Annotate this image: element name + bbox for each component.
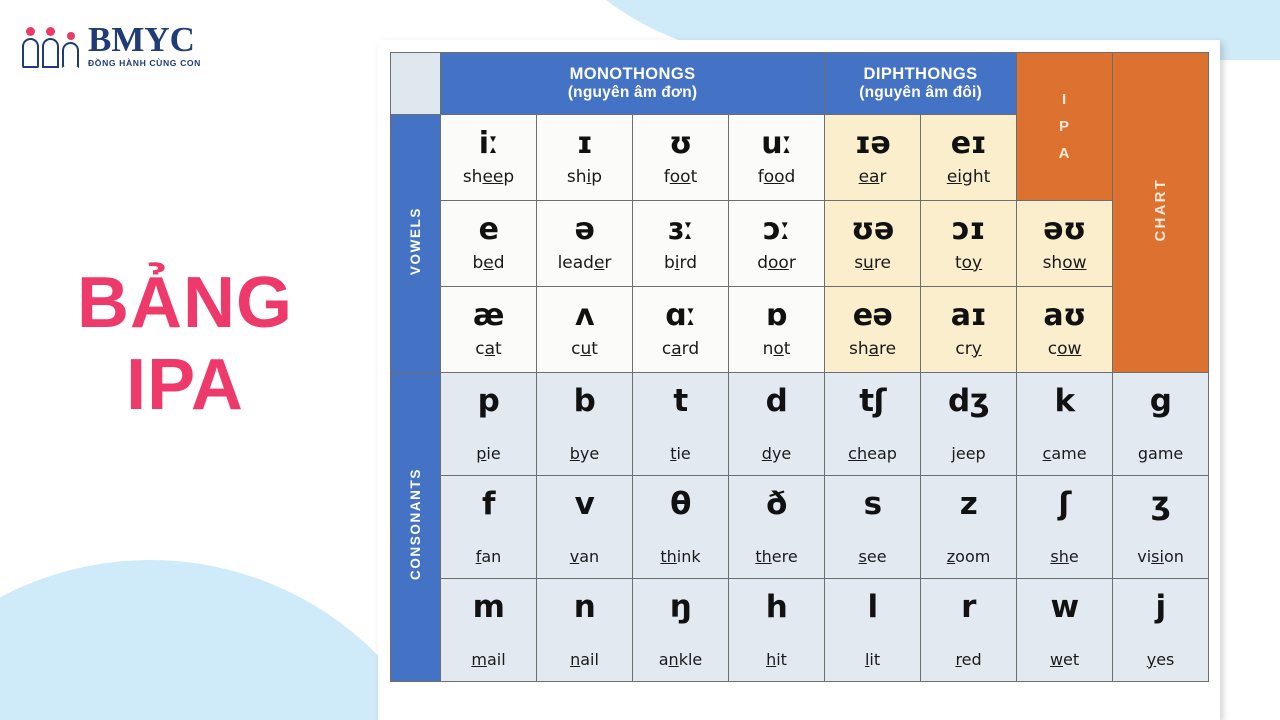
ipa-symbol: z xyxy=(921,488,1016,521)
example-word: cut xyxy=(537,339,632,359)
example-word: think xyxy=(633,547,728,566)
example-word: hit xyxy=(729,650,824,669)
header-chart-label: CHART xyxy=(1152,178,1169,242)
example-word: leader xyxy=(537,253,632,273)
ipa-symbol: e xyxy=(441,214,536,246)
ipa-symbol: əʊ xyxy=(1017,214,1112,246)
example-word: card xyxy=(633,339,728,359)
example-word: there xyxy=(729,547,824,566)
example-word: bed xyxy=(441,253,536,273)
ipa-symbol: ɒ xyxy=(729,300,824,332)
cell-consonant-0-1[interactable]: b bye xyxy=(537,373,633,476)
cell-consonant-2-4[interactable]: l lit xyxy=(825,579,921,682)
example-word: yes xyxy=(1113,650,1208,669)
example-word: jeep xyxy=(921,444,1016,463)
cell-consonant-1-4[interactable]: s see xyxy=(825,476,921,579)
brand-name: BMYC xyxy=(88,22,201,57)
example-word: lit xyxy=(825,650,920,669)
example-word: wet xyxy=(1017,650,1112,669)
example-word: show xyxy=(1017,253,1112,273)
ipa-symbol: dʒ xyxy=(921,385,1016,418)
page-title: BẢNG IPA xyxy=(0,262,370,426)
ipa-symbol: ə xyxy=(537,214,632,246)
example-word: eight xyxy=(921,167,1016,187)
example-word: ship xyxy=(537,167,632,187)
header-diphthongs: DIPHTHONGS (nguyên âm đôi) xyxy=(825,53,1017,115)
row-label-consonants: CONSONANTS xyxy=(391,373,441,682)
cell-vowel-2-1[interactable]: ʌ cut xyxy=(537,287,633,373)
cell-consonant-2-2[interactable]: ŋ ankle xyxy=(633,579,729,682)
cell-consonant-1-5[interactable]: z zoom xyxy=(921,476,1017,579)
example-word: sheep xyxy=(441,167,536,187)
ipa-symbol: b xyxy=(537,385,632,418)
header-ipa-block: IPA xyxy=(1017,53,1113,201)
ipa-symbol: s xyxy=(825,488,920,521)
example-word: she xyxy=(1017,547,1112,566)
cell-consonant-0-7[interactable]: g game xyxy=(1113,373,1209,476)
header-diphthongs-subtitle: (nguyên âm đôi) xyxy=(825,84,1016,102)
cell-consonant-0-0[interactable]: p pie xyxy=(441,373,537,476)
example-word: bird xyxy=(633,253,728,273)
page-title-line2: IPA xyxy=(0,344,370,426)
row-label-vowels-text: VOWELS xyxy=(408,207,423,275)
cell-vowel-1-2[interactable]: ɜː bird xyxy=(633,201,729,287)
example-word: pie xyxy=(441,444,536,463)
cell-diphthong-1-0[interactable]: ʊə sure xyxy=(825,201,921,287)
vowel-row-2: e bed ə leader ɜː bird ɔː door ʊə sure xyxy=(391,201,1209,287)
example-word: toy xyxy=(921,253,1016,273)
cell-consonant-1-0[interactable]: f fan xyxy=(441,476,537,579)
cell-vowel-0-2[interactable]: ʊ foot xyxy=(633,115,729,201)
example-word: fan xyxy=(441,547,536,566)
brand-tagline: ĐỒNG HÀNH CÙNG CON xyxy=(88,59,201,68)
ipa-symbol: v xyxy=(537,488,632,521)
cell-vowel-1-0[interactable]: e bed xyxy=(441,201,537,287)
row-label-consonants-text: CONSONANTS xyxy=(408,468,423,580)
ipa-symbol: ʊə xyxy=(825,214,920,246)
ipa-symbol: j xyxy=(1113,591,1208,624)
ipa-table: MONOTHONGS (nguyên âm đơn) DIPHTHONGS (n… xyxy=(390,52,1209,682)
cell-consonant-0-2[interactable]: t tie xyxy=(633,373,729,476)
cell-consonant-0-5[interactable]: dʒ jeep xyxy=(921,373,1017,476)
table-header-row: MONOTHONGS (nguyên âm đơn) DIPHTHONGS (n… xyxy=(391,53,1209,115)
ipa-symbol: iː xyxy=(441,128,536,160)
ipa-symbol: aɪ xyxy=(921,300,1016,332)
ipa-symbol: f xyxy=(441,488,536,521)
brand-logo[interactable]: BMYC ĐỒNG HÀNH CÙNG CON xyxy=(22,22,201,68)
example-word: vision xyxy=(1113,547,1208,566)
cell-vowel-0-3[interactable]: uː food xyxy=(729,115,825,201)
ipa-symbol: g xyxy=(1113,385,1208,418)
cell-consonant-2-7[interactable]: j yes xyxy=(1113,579,1209,682)
consonant-row-2: f fan v van θ think ð there s see xyxy=(391,476,1209,579)
ipa-symbol: ð xyxy=(729,488,824,521)
cell-consonant-0-3[interactable]: d dye xyxy=(729,373,825,476)
ipa-symbol: t xyxy=(633,385,728,418)
ipa-symbol: w xyxy=(1017,591,1112,624)
cell-consonant-1-7[interactable]: ʒ vision xyxy=(1113,476,1209,579)
ipa-symbol: h xyxy=(729,591,824,624)
example-word: van xyxy=(537,547,632,566)
header-diphthongs-title: DIPHTHONGS xyxy=(825,65,1016,84)
ipa-symbol: ɪ xyxy=(537,128,632,160)
ipa-symbol: d xyxy=(729,385,824,418)
page-title-line1: BẢNG xyxy=(77,263,293,343)
ipa-symbol: aʊ xyxy=(1017,300,1112,332)
consonant-row-3: m mail n nail ŋ ankle h hit l lit xyxy=(391,579,1209,682)
ipa-symbol: tʃ xyxy=(825,385,920,418)
cell-consonant-1-1[interactable]: v van xyxy=(537,476,633,579)
cell-consonant-1-6[interactable]: ʃ she xyxy=(1017,476,1113,579)
example-word: food xyxy=(729,167,824,187)
cell-vowel-2-2[interactable]: ɑː card xyxy=(633,287,729,373)
ipa-symbol: k xyxy=(1017,385,1112,418)
example-word: zoom xyxy=(921,547,1016,566)
ipa-symbol: ʊ xyxy=(633,128,728,160)
cell-consonant-2-0[interactable]: m mail xyxy=(441,579,537,682)
cell-vowel-0-0[interactable]: iː sheep xyxy=(441,115,537,201)
vowel-row-3: æ cat ʌ cut ɑː card ɒ not eə share xyxy=(391,287,1209,373)
example-word: not xyxy=(729,339,824,359)
ipa-symbol: uː xyxy=(729,128,824,160)
ipa-symbol: eɪ xyxy=(921,128,1016,160)
example-word: mail xyxy=(441,650,536,669)
example-word: red xyxy=(921,650,1016,669)
example-word: see xyxy=(825,547,920,566)
cell-consonant-2-3[interactable]: h hit xyxy=(729,579,825,682)
ipa-symbol: m xyxy=(441,591,536,624)
brand-text: BMYC ĐỒNG HÀNH CÙNG CON xyxy=(88,22,201,68)
ipa-symbol: r xyxy=(921,591,1016,624)
ipa-symbol: ʒ xyxy=(1113,488,1208,521)
example-word: door xyxy=(729,253,824,273)
cell-vowel-2-3[interactable]: ɒ not xyxy=(729,287,825,373)
header-chart-block: CHART xyxy=(1113,53,1209,373)
cell-diphthong-2-0[interactable]: eə share xyxy=(825,287,921,373)
example-word: cheap xyxy=(825,444,920,463)
cell-consonant-1-2[interactable]: θ think xyxy=(633,476,729,579)
example-word: tie xyxy=(633,444,728,463)
ipa-symbol: p xyxy=(441,385,536,418)
ipa-symbol: ʃ xyxy=(1017,488,1112,521)
example-word: came xyxy=(1017,444,1112,463)
example-word: share xyxy=(825,339,920,359)
example-word: foot xyxy=(633,167,728,187)
example-word: cry xyxy=(921,339,1016,359)
ipa-symbol: ɑː xyxy=(633,300,728,332)
ipa-chart-card: MONOTHONGS (nguyên âm đơn) DIPHTHONGS (n… xyxy=(378,40,1220,720)
ipa-symbol: ɔɪ xyxy=(921,214,1016,246)
row-label-vowels: VOWELS xyxy=(391,115,441,373)
three-people-logo-icon xyxy=(22,22,80,68)
cell-consonant-0-4[interactable]: tʃ cheap xyxy=(825,373,921,476)
ipa-symbol: n xyxy=(537,591,632,624)
ipa-symbol: ŋ xyxy=(633,591,728,624)
header-monothongs: MONOTHONGS (nguyên âm đơn) xyxy=(441,53,825,115)
example-word: dye xyxy=(729,444,824,463)
ipa-symbol: ɜː xyxy=(633,214,728,246)
cell-vowel-2-0[interactable]: æ cat xyxy=(441,287,537,373)
ipa-symbol: ɔː xyxy=(729,214,824,246)
cell-vowel-1-1[interactable]: ə leader xyxy=(537,201,633,287)
example-word: sure xyxy=(825,253,920,273)
ipa-symbol: eə xyxy=(825,300,920,332)
header-monothongs-subtitle: (nguyên âm đơn) xyxy=(441,84,824,102)
header-monothongs-title: MONOTHONGS xyxy=(441,65,824,84)
cell-consonant-1-3[interactable]: ð there xyxy=(729,476,825,579)
header-corner-cell xyxy=(391,53,441,115)
cell-diphthong-1-2[interactable]: əʊ show xyxy=(1017,201,1113,287)
example-word: cow xyxy=(1017,339,1112,359)
example-word: ankle xyxy=(633,650,728,669)
ipa-symbol: ɪə xyxy=(825,128,920,160)
cell-diphthong-2-2[interactable]: aʊ cow xyxy=(1017,287,1113,373)
cell-vowel-0-1[interactable]: ɪ ship xyxy=(537,115,633,201)
example-word: game xyxy=(1113,444,1208,463)
cell-vowel-1-3[interactable]: ɔː door xyxy=(729,201,825,287)
cell-diphthong-0-1[interactable]: eɪ eight xyxy=(921,115,1017,201)
ipa-symbol: θ xyxy=(633,488,728,521)
cell-diphthong-0-0[interactable]: ɪə ear xyxy=(825,115,921,201)
cell-consonant-2-1[interactable]: n nail xyxy=(537,579,633,682)
header-ipa-label: IPA xyxy=(1017,86,1112,167)
cell-consonant-2-6[interactable]: w wet xyxy=(1017,579,1113,682)
ipa-symbol: ʌ xyxy=(537,300,632,332)
ipa-symbol: æ xyxy=(441,300,536,332)
slide-canvas: BMYC ĐỒNG HÀNH CÙNG CON BẢNG IPA MONOTHO… xyxy=(0,0,1280,720)
example-word: bye xyxy=(537,444,632,463)
example-word: nail xyxy=(537,650,632,669)
cell-diphthong-1-1[interactable]: ɔɪ toy xyxy=(921,201,1017,287)
consonant-row-1: CONSONANTS p pie b bye t tie d dye xyxy=(391,373,1209,476)
ipa-symbol: l xyxy=(825,591,920,624)
example-word: cat xyxy=(441,339,536,359)
example-word: ear xyxy=(825,167,920,187)
cell-consonant-0-6[interactable]: k came xyxy=(1017,373,1113,476)
cell-consonant-2-5[interactable]: r red xyxy=(921,579,1017,682)
cell-diphthong-2-1[interactable]: aɪ cry xyxy=(921,287,1017,373)
